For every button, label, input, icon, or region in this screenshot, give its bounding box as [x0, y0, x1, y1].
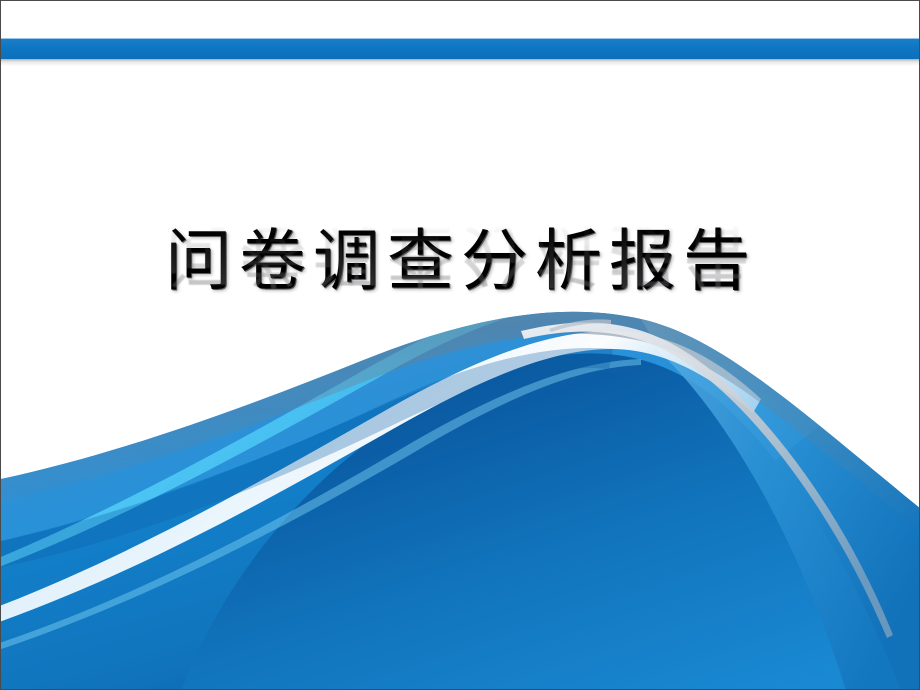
top-accent-bar: [1, 38, 919, 59]
accent-bar-highlight: [1, 38, 919, 39]
blue-wave-decoration: [1, 1, 920, 690]
presentation-slide: 问卷调查分析报告 问卷调查分析报告: [0, 0, 920, 690]
accent-bar-shadow: [1, 59, 919, 66]
